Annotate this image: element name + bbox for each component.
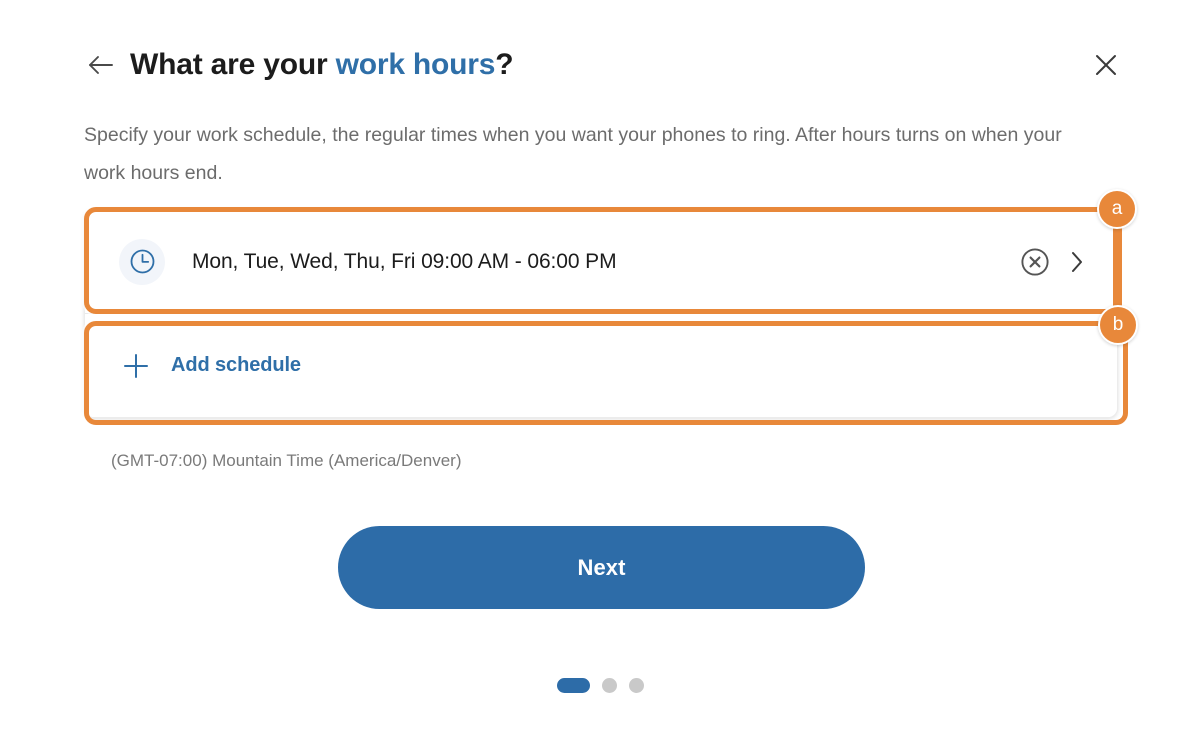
page-title-prefix: What are your: [130, 48, 336, 81]
next-button[interactable]: Next: [338, 526, 865, 609]
header: What are your work hours?: [84, 38, 1116, 90]
schedule-label: Mon, Tue, Wed, Thu, Fri 09:00 AM - 06:00…: [192, 250, 1019, 274]
clock-icon: [119, 239, 165, 285]
page-title-suffix: ?: [495, 48, 513, 81]
plus-icon: [121, 351, 151, 381]
row-actions: [1019, 246, 1087, 278]
description-text: Specify your work schedule, the regular …: [84, 116, 1089, 192]
add-schedule-label: Add schedule: [171, 354, 301, 377]
pagination-dot-3[interactable]: [629, 678, 644, 693]
add-schedule-row[interactable]: Add schedule: [85, 314, 1117, 417]
schedule-card: Mon, Tue, Wed, Thu, Fri 09:00 AM - 06:00…: [84, 209, 1118, 418]
circle-x-icon[interactable]: [1019, 246, 1051, 278]
back-arrow-icon[interactable]: [84, 48, 118, 82]
pagination-dot-2[interactable]: [602, 678, 617, 693]
timezone-label: (GMT-07:00) Mountain Time (America/Denve…: [111, 451, 462, 471]
page-title-accent: work hours: [336, 48, 496, 81]
chevron-right-icon[interactable]: [1067, 246, 1087, 278]
work-hours-schedule-row[interactable]: Mon, Tue, Wed, Thu, Fri 09:00 AM - 06:00…: [85, 210, 1117, 313]
close-icon[interactable]: [1088, 47, 1124, 83]
work-hours-setup-screen: What are your work hours? Specify your w…: [0, 0, 1200, 742]
pagination-dot-1[interactable]: [557, 678, 590, 693]
pagination-dots: [0, 678, 1200, 693]
page-title: What are your work hours?: [130, 48, 513, 81]
